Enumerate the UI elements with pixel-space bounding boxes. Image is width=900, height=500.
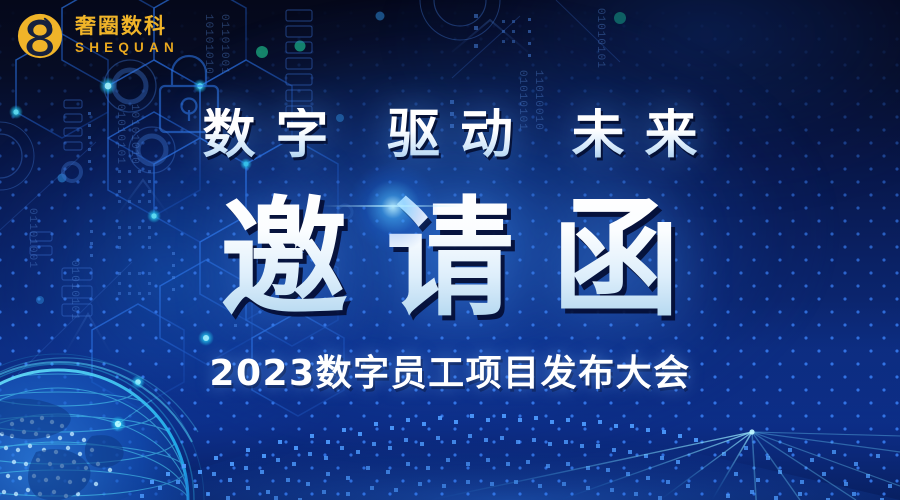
invitation-banner: 01010101 10101010 01101001 01010101 1101… [0,0,900,500]
subtitle-text: 2023数字员工项目发布大会 [0,356,900,392]
banner-content: 数字 驱动 未来 邀请函 2023数字员工项目发布大会 [0,0,900,500]
headline-text: 邀请函 [0,188,900,331]
logo-text-group: 奢圈数科 SHEQUAN [75,15,179,57]
logo-chinese-name: 奢圈数科 [75,15,179,38]
shequan-emblem-icon [16,12,64,60]
kicker-text: 数字 驱动 未来 [0,108,900,161]
brand-logo[interactable]: 奢圈数科 SHEQUAN [16,12,179,60]
logo-english-name: SHEQUAN [75,39,179,57]
